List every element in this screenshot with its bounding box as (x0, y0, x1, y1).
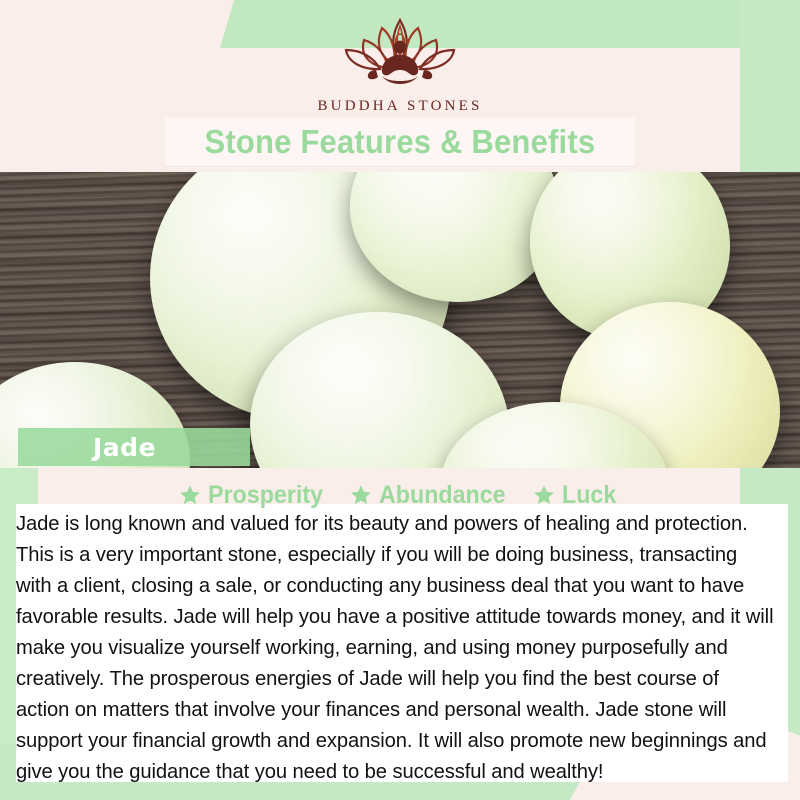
page-title-banner: Stone Features & Benefits (165, 118, 635, 166)
star-icon (179, 484, 201, 506)
star-icon (350, 484, 372, 506)
benefit-item-luck: Luck (533, 481, 620, 510)
star-icon (533, 484, 555, 506)
stone-name: Jade (93, 433, 156, 462)
description-block: Jade is long known and valued for its be… (16, 508, 788, 787)
benefit-label: Prosperity (208, 481, 323, 510)
stone-name-badge: Jade (18, 428, 250, 466)
benefit-item-prosperity: Prosperity (179, 481, 332, 510)
benefit-label: Luck (562, 481, 616, 510)
benefit-item-abundance: Abundance (350, 481, 515, 510)
brand-logo: BUDDHA STONES (0, 14, 800, 115)
benefits-list: Prosperity Abundance Luck (0, 478, 800, 512)
stone-info-card: BUDDHA STONES Stone Features & Benefits … (0, 0, 800, 800)
description-paragraph: Jade is long known and valued for its be… (16, 508, 776, 787)
brand-name: BUDDHA STONES (0, 98, 800, 115)
benefit-label: Abundance (379, 481, 506, 510)
page-title: Stone Features & Benefits (205, 123, 596, 161)
stone-photo (0, 172, 800, 468)
lotus-meditation-icon (320, 14, 480, 96)
